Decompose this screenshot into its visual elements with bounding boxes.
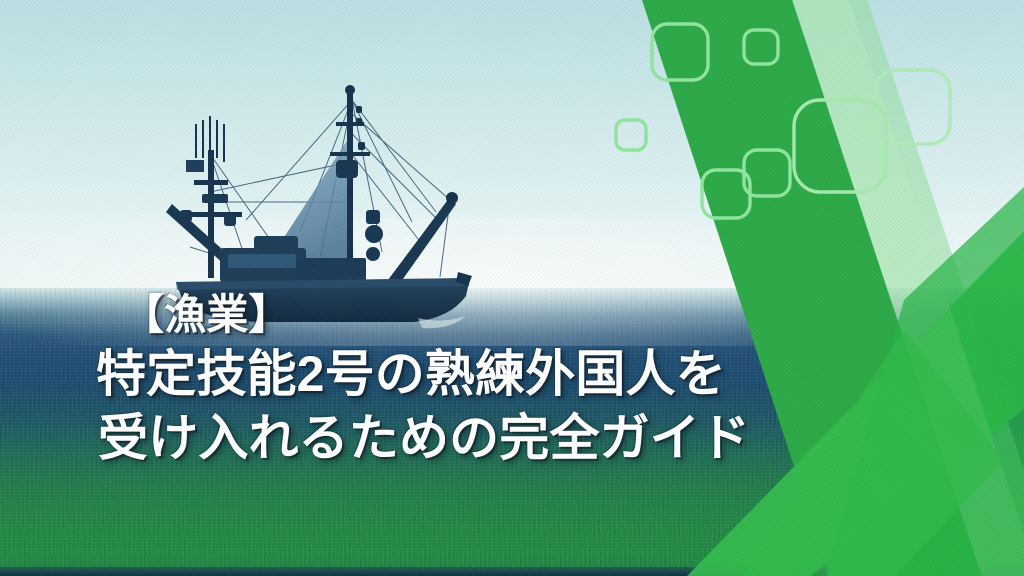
headline-category-tag: 【漁業】	[122, 288, 816, 342]
headline-line-2: 受け入れるための完全ガイド	[98, 406, 816, 470]
banner-root: 【漁業】 特定技能2号の熟練外国人を 受け入れるための完全ガイド	[0, 0, 1024, 576]
headline-block: 【漁業】 特定技能2号の熟練外国人を 受け入れるための完全ガイド	[96, 288, 816, 470]
headline-line-1: 特定技能2号の熟練外国人を	[96, 342, 816, 406]
rounded-square-4	[616, 120, 646, 150]
